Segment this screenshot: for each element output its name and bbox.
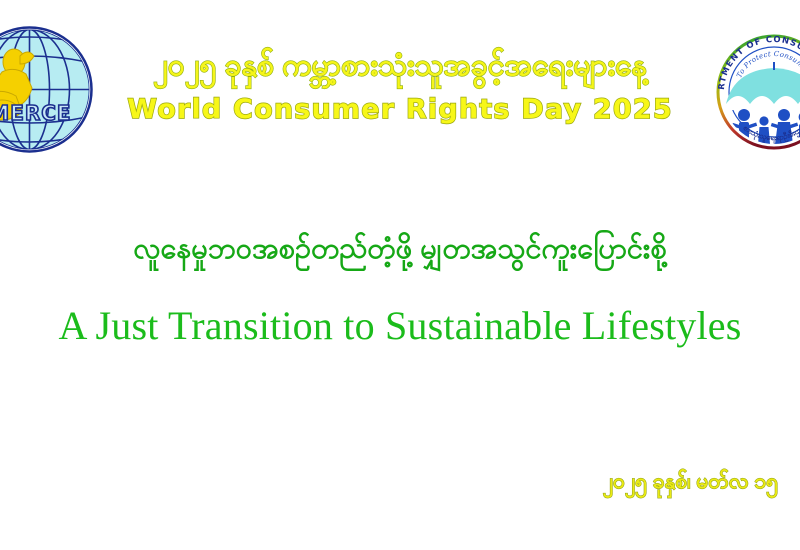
theme-block: လူနေမှုဘဝအစဉ်တည်တံ့ဖို့ မျှတအသွင်ကူးပြော… [0,228,800,349]
page-title-burmese: ၂၀၂၅ ခုနှစ် ကမ္ဘာ့စားသုံးသူအခွင့်အရေးမျာ… [0,44,800,88]
poster-canvas: MMERCE [0,0,800,550]
title-block: ၂၀၂၅ ခုနှစ် ကမ္ဘာ့စားသုံးသူအခွင့်အရေးမျာ… [0,44,800,125]
page-title-english: World Consumer Rights Day 2025 [0,94,800,125]
event-date-burmese: ၂၀၂၅ ခုနှစ်၊ မတ်လ ၁၅ [603,468,778,499]
theme-text-english: A Just Transition to Sustainable Lifesty… [0,302,800,349]
theme-text-burmese: လူနေမှုဘဝအစဉ်တည်တံ့ဖို့ မျှတအသွင်ကူးပြော… [0,228,800,272]
